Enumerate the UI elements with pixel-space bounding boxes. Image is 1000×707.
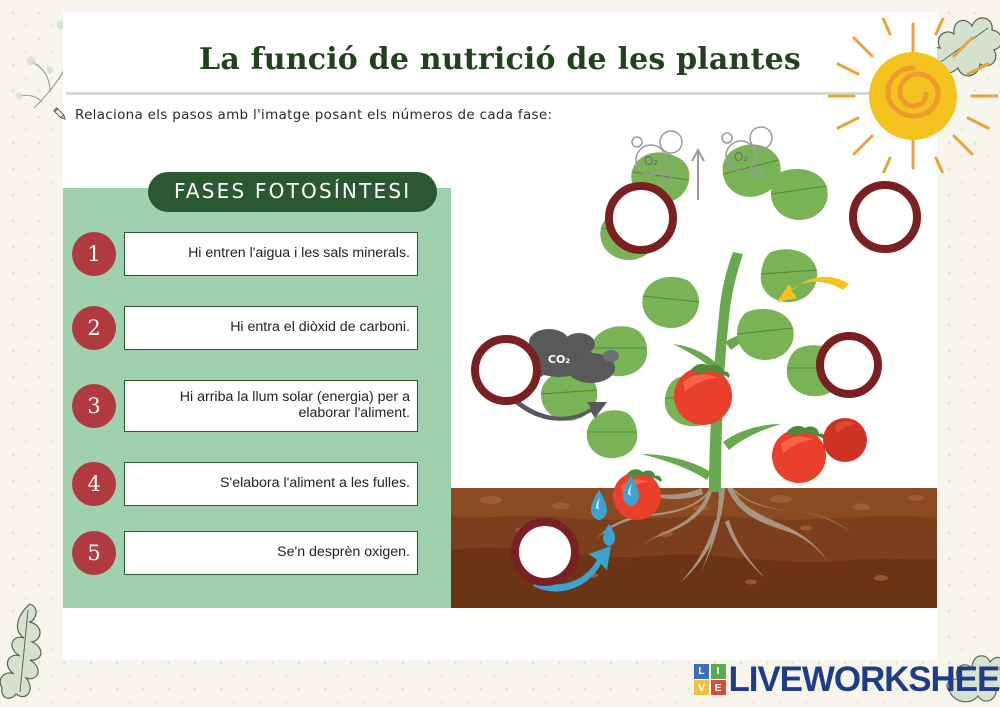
answer-circle-co2[interactable] <box>471 335 541 405</box>
logo-tile-e: E <box>711 680 726 695</box>
pencil-icon <box>52 106 69 123</box>
logo-tiles: L I V E <box>694 664 726 696</box>
answer-circle-sunlight[interactable] <box>849 181 921 253</box>
oxygen-label: O₂ <box>734 150 748 164</box>
logo-tile-i: I <box>711 664 726 679</box>
step-text: Hi arriba la llum solar (energia) per a … <box>124 380 418 432</box>
step-number: 2 <box>72 306 116 350</box>
page-title: La funció de nutrició de les plantes <box>63 42 937 77</box>
step-number: 5 <box>72 531 116 575</box>
answer-circle-leaves[interactable] <box>816 332 882 398</box>
oxygen-arrow <box>692 150 704 200</box>
step-text: S'elabora l'aliment a les fulles. <box>124 462 418 506</box>
step-text: Hi entra el diòxid de carboni. <box>124 306 418 350</box>
answer-circle-oxygen[interactable] <box>605 182 677 254</box>
photosynthesis-illustration: O₂ O₂ CO₂ <box>451 120 937 608</box>
logo-tile-v: V <box>694 680 709 695</box>
logo-tile-l: L <box>694 664 709 679</box>
logo-text: LIVEWORKSHEETS <box>729 662 1000 697</box>
liveworksheets-logo: L I V E LIVEWORKSHEETS <box>694 662 1000 697</box>
step-number: 3 <box>72 384 116 428</box>
step-number: 1 <box>72 232 116 276</box>
co2-label: CO₂ <box>548 353 570 366</box>
steps-panel-heading: FASES FOTOSÍNTESI <box>148 172 437 212</box>
step-text: Se'n desprèn oxigen. <box>124 531 418 575</box>
oxygen-label: O₂ <box>644 154 658 168</box>
step-text: Hi entren l'aigua i les sals minerals. <box>124 232 418 276</box>
title-divider <box>66 92 934 95</box>
answer-circle-water[interactable] <box>511 518 579 586</box>
step-number: 4 <box>72 462 116 506</box>
